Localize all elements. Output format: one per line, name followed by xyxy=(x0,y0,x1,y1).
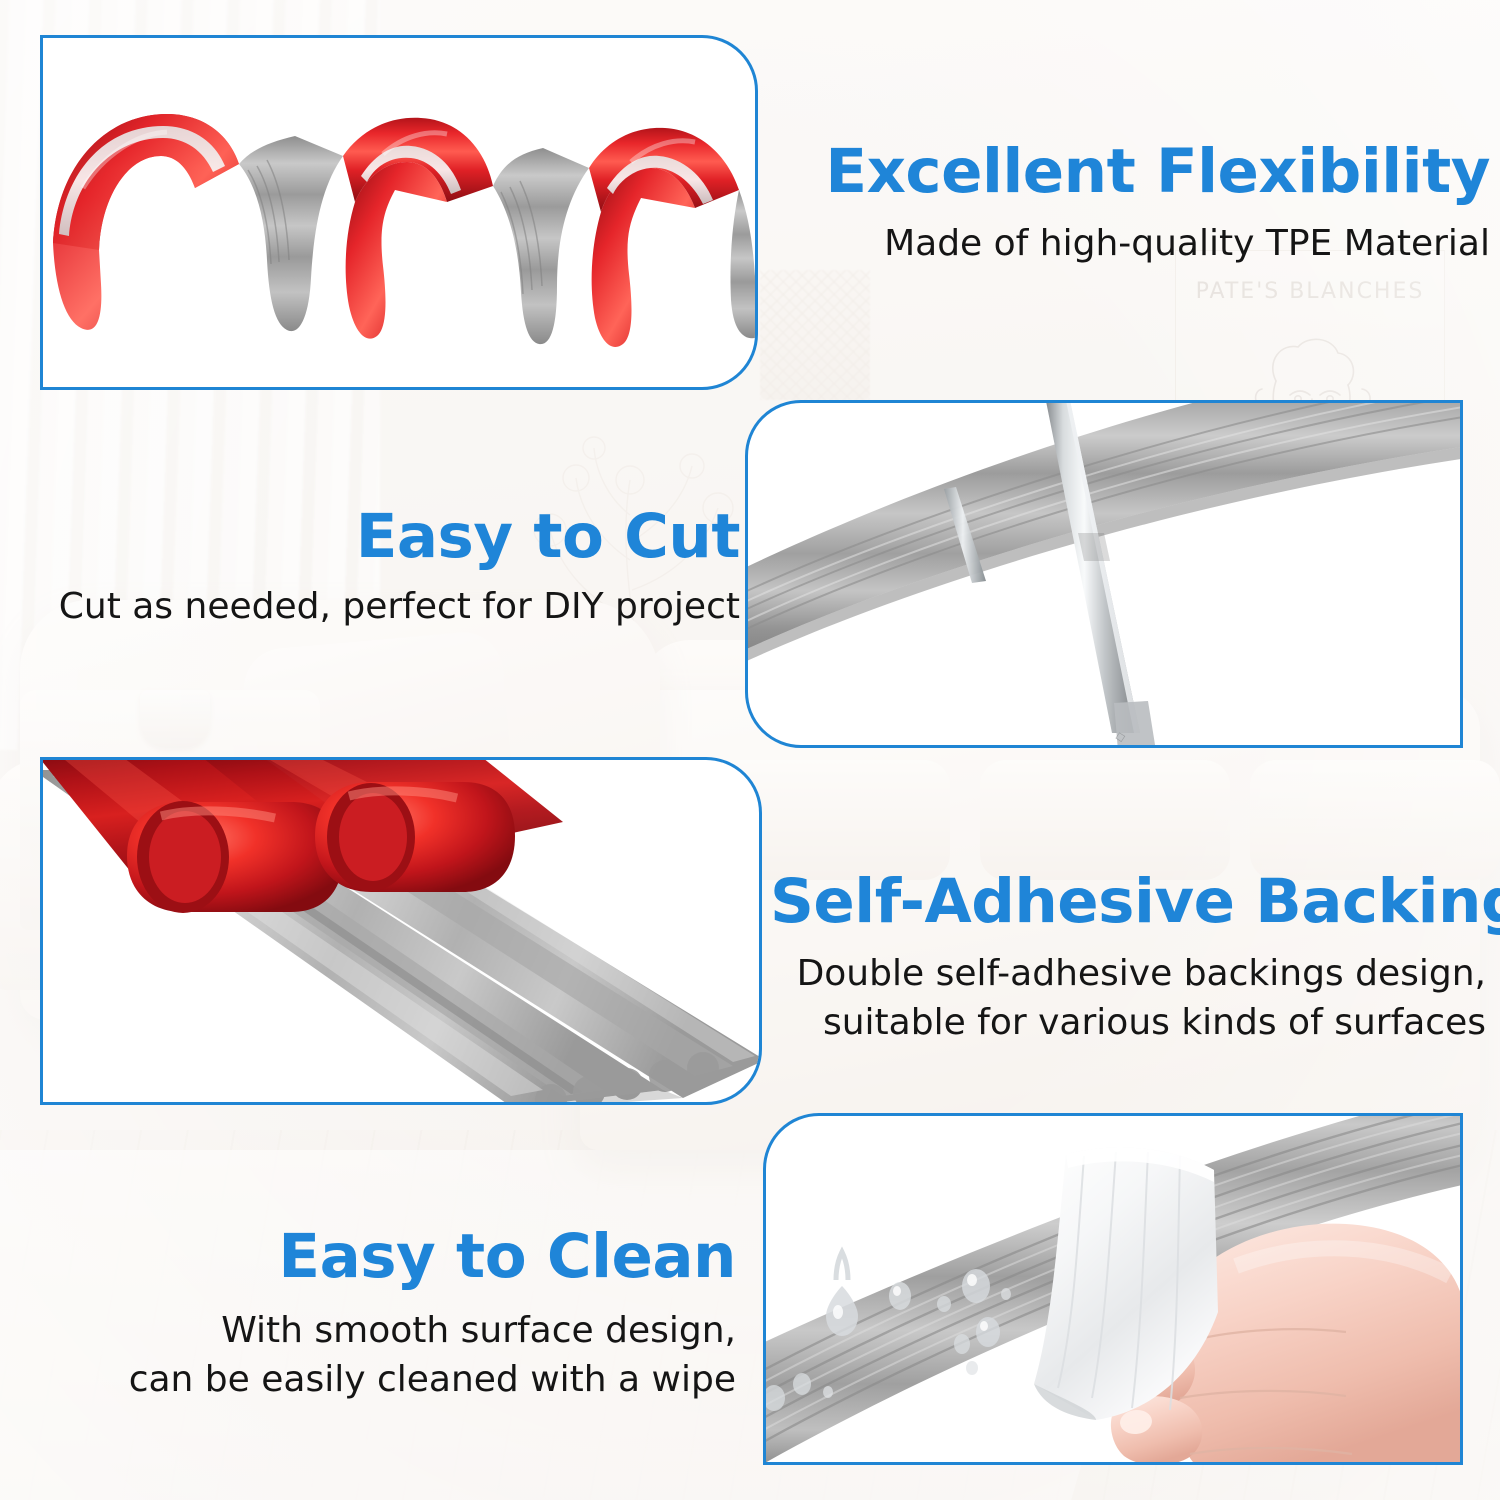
feature-text-flexibility: Excellent Flexibility Made of high-quali… xyxy=(760,140,1490,268)
product-infographic: PATE'S BLANCHES xyxy=(0,0,1500,1500)
adhesive-liner-peel-illustration xyxy=(43,760,759,1102)
headline-easy-to-clean: Easy to Clean xyxy=(20,1225,736,1288)
subtitle-self-adhesive-line-1: Double self-adhesive backings design, xyxy=(770,951,1486,997)
feature-image-self-adhesive xyxy=(40,757,762,1105)
feature-text-self-adhesive: Self-Adhesive Backing Double self-adhesi… xyxy=(770,870,1486,1046)
feature-image-flexibility xyxy=(40,35,758,390)
headline-self-adhesive-backing: Self-Adhesive Backing xyxy=(770,870,1486,933)
subtitle-self-adhesive-line-2: suitable for various kinds of surfaces xyxy=(770,1000,1486,1046)
subtitle-easy-to-clean-line-1: With smooth surface design, xyxy=(20,1308,736,1354)
feature-image-easy-to-cut: ◇ xyxy=(745,400,1463,748)
subtitle-excellent-flexibility: Made of high-quality TPE Material xyxy=(760,221,1490,267)
feature-text-easy-to-clean: Easy to Clean With smooth surface design… xyxy=(20,1225,736,1403)
subtitle-easy-to-cut: Cut as needed, perfect for DIY project xyxy=(20,584,740,630)
subtitle-easy-to-clean-line-2: can be easily cleaned with a wipe xyxy=(20,1357,736,1403)
hand-wiping-strip-illustration xyxy=(766,1116,1460,1462)
headline-excellent-flexibility: Excellent Flexibility xyxy=(760,140,1490,203)
feature-text-easy-to-cut: Easy to Cut Cut as needed, perfect for D… xyxy=(20,505,740,631)
twisted-tpe-strip-illustration xyxy=(43,38,755,387)
headline-easy-to-cut: Easy to Cut xyxy=(20,505,740,568)
scissors-cutting-strip-illustration: ◇ xyxy=(748,403,1460,745)
feature-image-easy-to-clean xyxy=(763,1113,1463,1465)
